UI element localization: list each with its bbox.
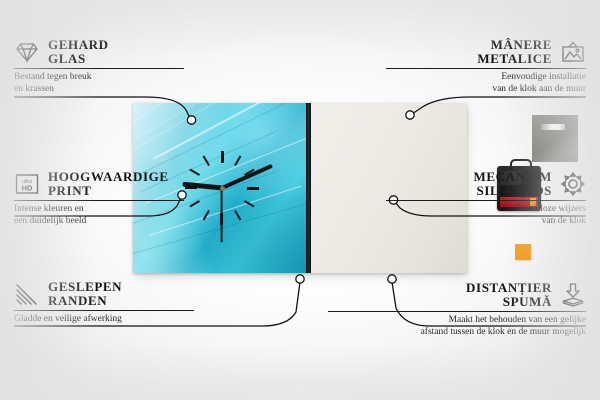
foam-spacer — [515, 244, 531, 260]
ultra-hd-icon: ultra HD — [14, 171, 40, 197]
callout-manere-metalice: MÂNERE METALICE Eenvoudige installatie v… — [386, 38, 586, 95]
callout-rule — [14, 200, 184, 201]
callout-title-line2: SILENȚIOS — [474, 184, 552, 198]
callout-gehard-glas: GEHARD GLAS Bestand tegen breuk en krass… — [14, 38, 184, 95]
callout-title-line1: HOOGWAARDIGE — [48, 170, 169, 184]
callout-geslepen-randen: GESLEPEN RANDEN Gladde en veilige afwerk… — [14, 280, 194, 326]
infographic-canvas: GEHARD GLAS Bestand tegen breuk en krass… — [0, 0, 600, 400]
beveled-edge-icon — [14, 281, 40, 307]
callout-desc-line2: en krassen — [14, 84, 184, 96]
callout-desc-line2: van de klok aan de muur — [386, 84, 586, 96]
feather-streak — [133, 103, 264, 124]
callout-desc-line1: Maakt het behouden van een gelijke — [328, 315, 586, 327]
callout-title-line1: DISTANȚIER — [466, 281, 552, 295]
gear-icon — [560, 171, 586, 197]
callout-title-line2: RANDEN — [48, 294, 122, 308]
feather-streak — [137, 103, 311, 176]
clock-center-pin — [220, 186, 225, 191]
diamond-icon — [14, 39, 40, 65]
callout-rule — [328, 311, 586, 312]
callout-mecanism-silentios: MECANISM SILENȚIOS Geruisloze wijzers — [386, 170, 586, 227]
callout-desc-line1: Intense kleuren en — [14, 204, 184, 216]
callout-desc-line1: Eenvoudige installatie — [386, 72, 586, 84]
callout-rule — [386, 200, 586, 201]
svg-text:HD: HD — [22, 184, 33, 193]
callout-title-line1: MECANISM — [474, 170, 552, 184]
callout-title-line2: PRINT — [48, 184, 169, 198]
callout-title-line2: GLAS — [48, 52, 109, 66]
callout-title-line2: SPUMĂ — [466, 295, 552, 309]
callout-title-line1: GEHARD — [48, 38, 109, 52]
second-hand — [221, 188, 223, 242]
callout-rule — [386, 68, 586, 69]
callout-title-line1: GESLEPEN — [48, 280, 122, 294]
callout-hoogwaardige-print: ultra HD HOOGWAARDIGE PRINT Intense kleu… — [14, 170, 184, 227]
callout-title-line1: MÂNERE — [477, 38, 552, 52]
picture-frame-icon — [560, 39, 586, 65]
callout-rule — [14, 68, 184, 69]
callout-desc-line2: afstand tussen de klok en de muur mogeli… — [328, 327, 586, 339]
callout-distantier-spuma: DISTANȚIER SPUMĂ Maakt het behouden van … — [328, 281, 586, 338]
callout-rule — [14, 310, 194, 311]
callout-desc-line2: van de klok — [386, 216, 586, 228]
metal-hanger-plate — [532, 115, 578, 162]
spacer-arrow-icon — [560, 282, 586, 308]
callout-desc-line1: Gladde en veilige afwerking — [14, 314, 194, 326]
callout-desc-line1: Bestand tegen breuk — [14, 72, 184, 84]
callout-desc-line1: Geruisloze wijzers — [386, 204, 586, 216]
callout-desc-line2: een duidelijk beeld — [14, 216, 184, 228]
callout-title-line2: METALICE — [477, 52, 552, 66]
